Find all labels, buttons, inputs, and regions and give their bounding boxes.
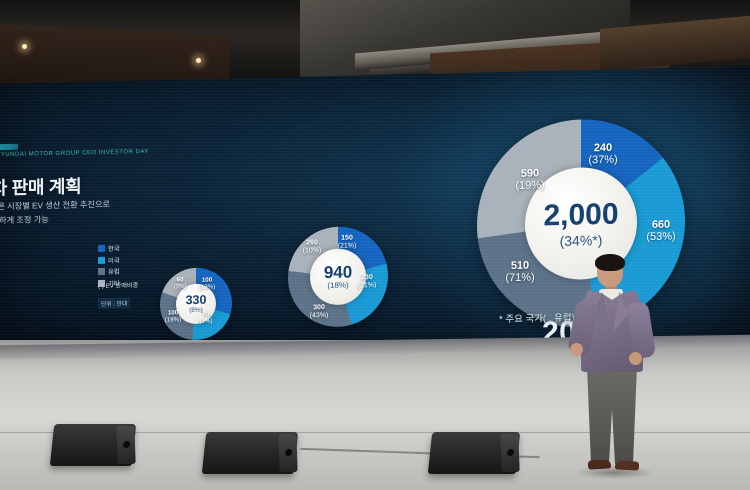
presenter-hand-right — [629, 352, 642, 365]
pie-center-pct: (18%) — [327, 282, 348, 290]
pie-center-value: 940 — [324, 263, 352, 281]
pie-segment-label-2023-us: 70(9%) — [195, 311, 217, 325]
legend-label: 한국 — [108, 244, 120, 253]
pie-segment-label-2023-korea: 100(13%) — [194, 277, 220, 291]
legend-item-us: 미국 — [98, 255, 120, 264]
stage-monitor-speaker — [50, 424, 136, 466]
legend-label: 미국 — [108, 255, 120, 264]
presenter-hair — [595, 254, 625, 271]
legend-swatch-icon — [98, 245, 105, 252]
pie-center-value: 2,000 — [543, 199, 618, 231]
legend-item-europe: 유럽 — [98, 267, 120, 276]
pie-segment-label-2030-other: 590(19%) — [508, 168, 552, 193]
slide-eyebrow: HYUNDAI MOTOR GROUP CEO INVESTOR DAY — [0, 149, 149, 158]
pie-segment-label-2030-europe: 510(71%) — [498, 260, 542, 285]
legend-swatch-icon — [98, 256, 105, 263]
pie-center-value: 330 — [186, 294, 207, 307]
presenter-figure — [566, 256, 662, 486]
pie-segment-label-2023-other: 60(3%) — [170, 277, 190, 291]
presenter-shoe-right — [615, 460, 639, 470]
brand-chip — [0, 144, 18, 151]
stage-monitor-speaker — [202, 432, 298, 474]
ceiling-spotlight-icon — [196, 58, 201, 63]
pie-segment-label-2026-other: 260(10%) — [299, 239, 325, 255]
pie-segment-label-2023-europe: 100(18%) — [161, 310, 185, 324]
legend-label: 유럽 — [108, 267, 120, 276]
pie-segment-label-2026-us: 230(21%) — [354, 274, 380, 290]
legend-item-korea: 한국 — [98, 244, 120, 253]
pie-segment-label-2030-korea: 240(37%) — [580, 143, 626, 168]
legend-note: ( ) EV 판매비중 — [98, 280, 138, 290]
pie-segment-label-2026-korea: 150(21%) — [334, 234, 360, 250]
stage-photograph: HYUNDAI MOTOR GROUP CEO INVESTOR DAY l차 … — [0, 0, 750, 490]
slide-title: l차 판매 계획 — [0, 172, 81, 200]
pie-segment-label-2030-us: 660(53%) — [639, 219, 683, 244]
slide-subtitle-line2: 유연하게 조정 가능 — [0, 213, 49, 226]
slide-subtitle-line1: 에 따른 시장별 EV 생산 전환 추진으로 — [0, 198, 110, 213]
pie-segment-label-2026-europe: 300(43%) — [306, 304, 332, 320]
legend-source: 단위 : 만대 — [98, 297, 130, 309]
ceiling-spotlight-icon — [22, 44, 27, 49]
stage-monitor-speaker — [428, 432, 520, 474]
pie-center-pct: (34%*) — [560, 233, 603, 248]
legend-swatch-icon — [98, 268, 105, 275]
presenter-shoe-left — [588, 459, 611, 469]
presenter-trousers — [587, 366, 637, 464]
